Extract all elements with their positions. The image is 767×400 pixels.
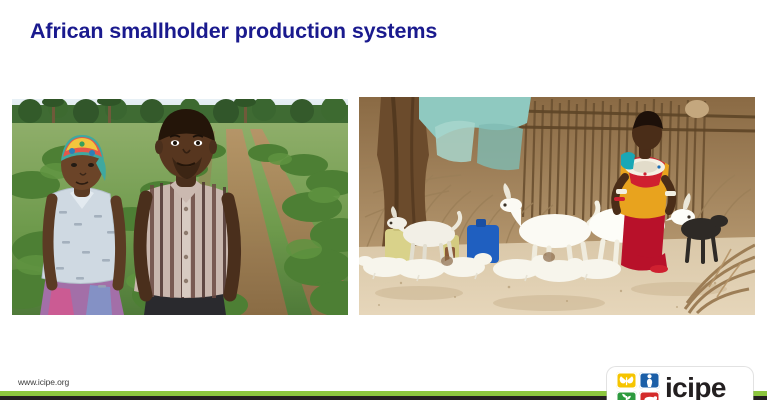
butterfly-icon — [619, 375, 634, 387]
icipe-wordmark: icipe — [665, 373, 726, 400]
goat-homestead-scene — [359, 97, 755, 315]
plant-icon — [621, 393, 632, 400]
footer-website-url[interactable]: www.icipe.org — [18, 377, 69, 387]
person-tile — [639, 372, 660, 389]
pastoralist-goat-herd-photo — [359, 97, 755, 315]
butterfly-tile — [616, 372, 637, 389]
plant-tile — [616, 391, 637, 400]
person-icon — [645, 374, 654, 387]
presentation-slide: African smallholder production systems — [0, 0, 767, 400]
smallholder-crop-farmers-photo — [12, 99, 348, 315]
icipe-logo-tiles — [616, 372, 660, 400]
livestock-tile — [639, 391, 660, 400]
crop-field-scene — [12, 99, 348, 315]
livestock-icon — [643, 395, 657, 400]
icipe-logo: icipe — [607, 367, 753, 400]
page-title: African smallholder production systems — [30, 19, 437, 44]
